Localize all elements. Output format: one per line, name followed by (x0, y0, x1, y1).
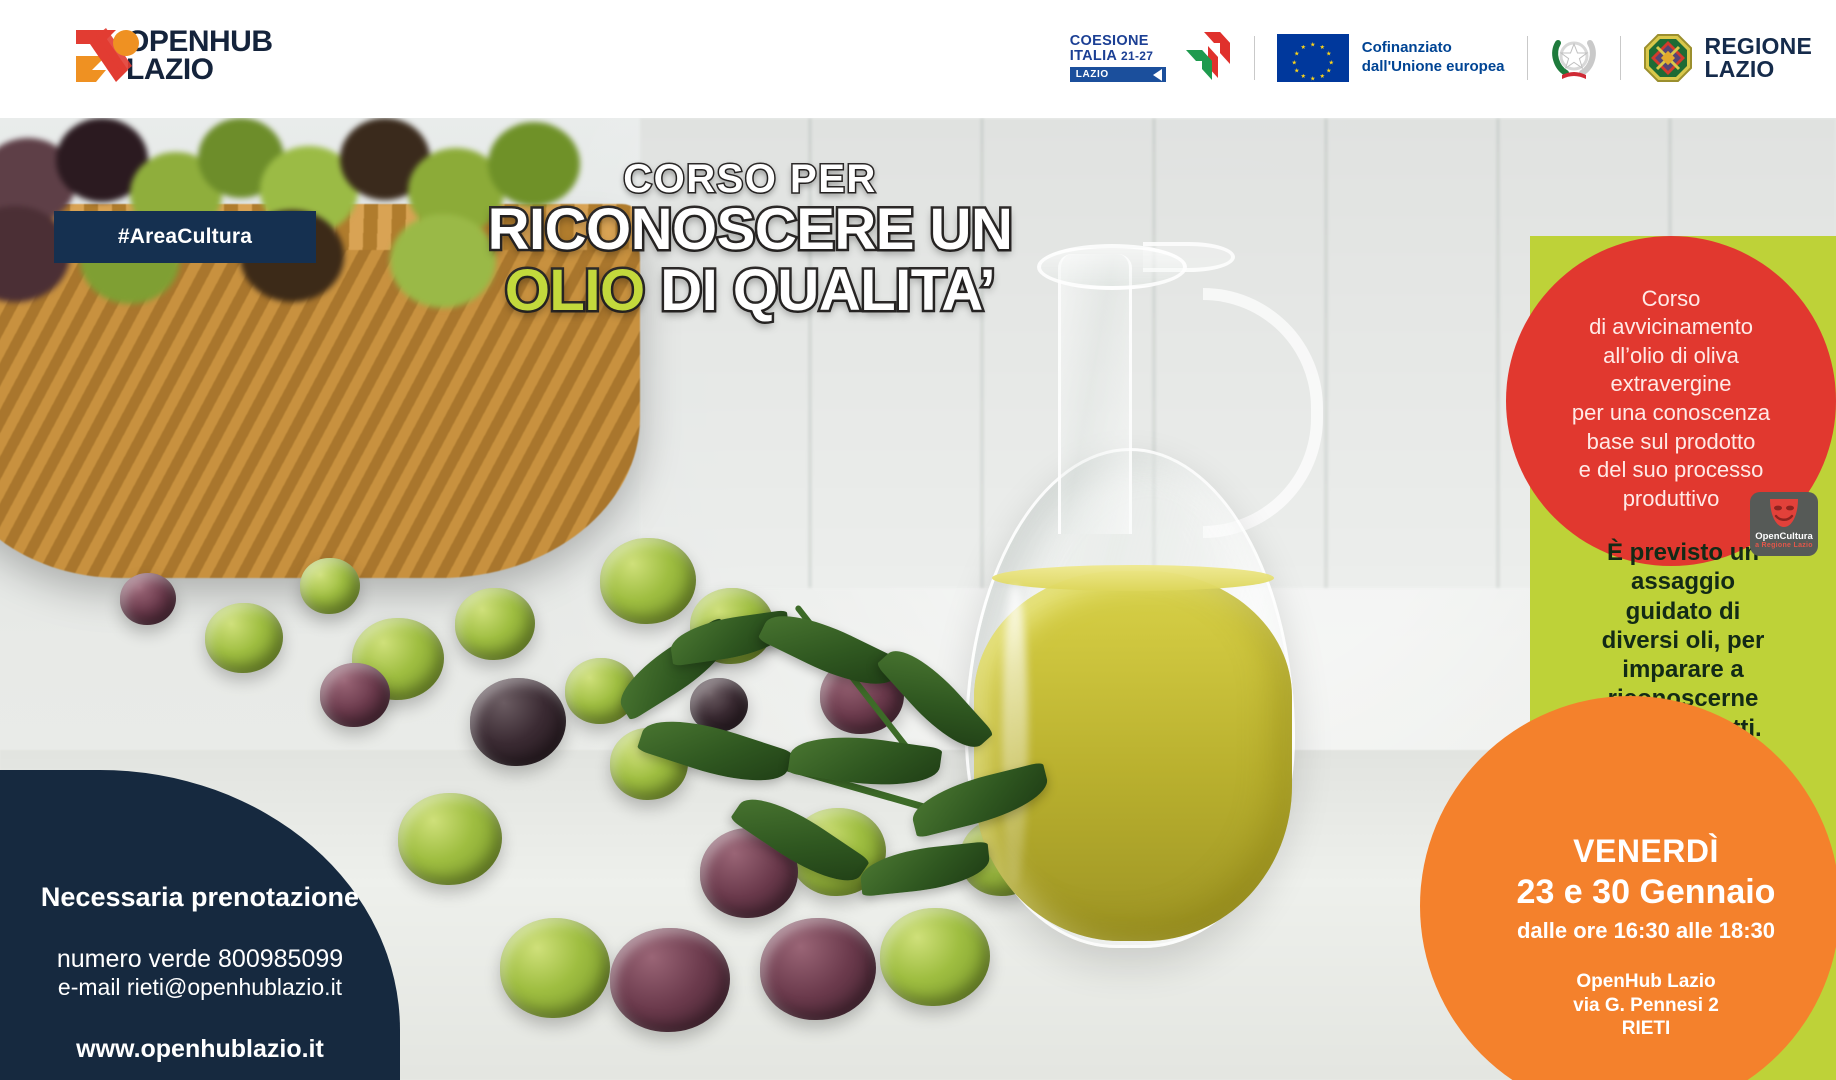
carafe-neck (1058, 254, 1132, 534)
coesione-line-2: ITALIA (1070, 48, 1117, 64)
website-link[interactable]: www.openhublazio.it (0, 1035, 400, 1064)
regione-lazio-emblem-icon (1643, 33, 1693, 83)
olive (455, 588, 535, 660)
eu-cofunding-logo: Cofinanziato dall'Unione europea (1277, 34, 1505, 82)
red-circle-text: Corso di avvicinamento all’olio di oliva… (1521, 285, 1821, 518)
olive (320, 663, 390, 727)
opencultura-logo: OpenCultura a Regione Lazio (1750, 492, 1818, 556)
olive (470, 678, 566, 766)
badge-divider (1620, 36, 1621, 80)
booking-phone: numero verde 800985099 (0, 945, 400, 974)
booking-heading: Necessaria prenotazione (0, 882, 400, 913)
coesione-italia-logo: COESIONE ITALIA 21-27 LAZIO (1070, 30, 1232, 87)
eu-text-line-1: Cofinanziato (1362, 39, 1505, 58)
event-venue: OpenHub Lazio via G. Pennesi 2 RIETI (1472, 970, 1820, 1040)
olive (500, 918, 610, 1018)
olive (398, 793, 502, 885)
area-cultura-label: #AreaCultura (118, 225, 252, 249)
theatre-mask-icon (1764, 497, 1804, 529)
regione-line-1: REGIONE (1705, 35, 1812, 58)
coesione-years: 21-27 (1121, 49, 1153, 63)
openhub-mark-icon (72, 26, 168, 86)
eu-flag-icon (1277, 34, 1349, 82)
olive (600, 538, 696, 624)
olive (300, 558, 360, 614)
hero-title-block: CORSO PER RICONOSCERE UN OLIO DI QUALITA… (440, 158, 1060, 322)
venue-name: OpenHub Lazio (1472, 970, 1820, 993)
title-eyebrow: CORSO PER (440, 158, 1060, 200)
orange-circle-content: VENERDÌ 23 e 30 Gennaio dalle ore 16:30 … (1456, 833, 1836, 1080)
poster-root: OPENHUB LAZIO COESIONE ITALIA 21-27 LAZI… (0, 0, 1836, 1080)
republic-emblem-icon (1550, 31, 1598, 85)
coesione-region-bar: LAZIO (1070, 67, 1166, 82)
olive-leaf (637, 706, 794, 796)
venue-street: via G. Pennesi 2 (1472, 994, 1820, 1017)
olive-leaf (788, 728, 943, 794)
area-cultura-badge: #AreaCultura (54, 211, 316, 263)
coesione-line-1: COESIONE (1070, 34, 1166, 49)
opencultura-sub: a Regione Lazio (1755, 542, 1813, 549)
venue-city: RIETI (1472, 1017, 1820, 1040)
oil-surface (992, 565, 1274, 591)
badge-divider (1254, 36, 1255, 80)
event-date: 23 e 30 Gennaio (1472, 873, 1820, 912)
hero-photo: #AreaCultura CORSO PER RICONOSCERE UN OL… (0, 118, 1836, 1080)
openhub-lazio-logo[interactable]: OPENHUB LAZIO (72, 26, 273, 86)
event-hours: dalle ore 16:30 alle 18:30 (1472, 918, 1820, 944)
olive (205, 603, 283, 673)
olive (120, 573, 176, 625)
olive-leaf (858, 841, 992, 896)
title-highlight-word: OLIO (505, 258, 645, 323)
regione-lazio-logo: REGIONE LAZIO (1643, 33, 1812, 83)
olive-branch (610, 618, 1090, 948)
event-day: VENERDÌ (1472, 833, 1820, 870)
title-line-2: OLIO DI QUALITA’ (440, 261, 1060, 322)
olive-leaf (730, 783, 871, 898)
coesione-arrows-icon (1174, 30, 1232, 87)
title-line-1: RICONOSCERE UN (440, 200, 1060, 261)
eu-text-line-2: dall'Unione europea (1362, 58, 1505, 77)
page-header: OPENHUB LAZIO COESIONE ITALIA 21-27 LAZI… (0, 0, 1836, 118)
badge-divider (1527, 36, 1528, 80)
navy-panel-content: Necessaria prenotazione numero verde 800… (0, 770, 400, 1064)
funding-badges: COESIONE ITALIA 21-27 LAZIO (1070, 20, 1812, 96)
regione-line-2: LAZIO (1705, 58, 1812, 81)
opencultura-name: OpenCultura (1755, 531, 1813, 542)
booking-email[interactable]: e-mail rieti@openhublazio.it (0, 974, 400, 1001)
title-line-2-rest: DI QUALITA’ (645, 258, 996, 323)
